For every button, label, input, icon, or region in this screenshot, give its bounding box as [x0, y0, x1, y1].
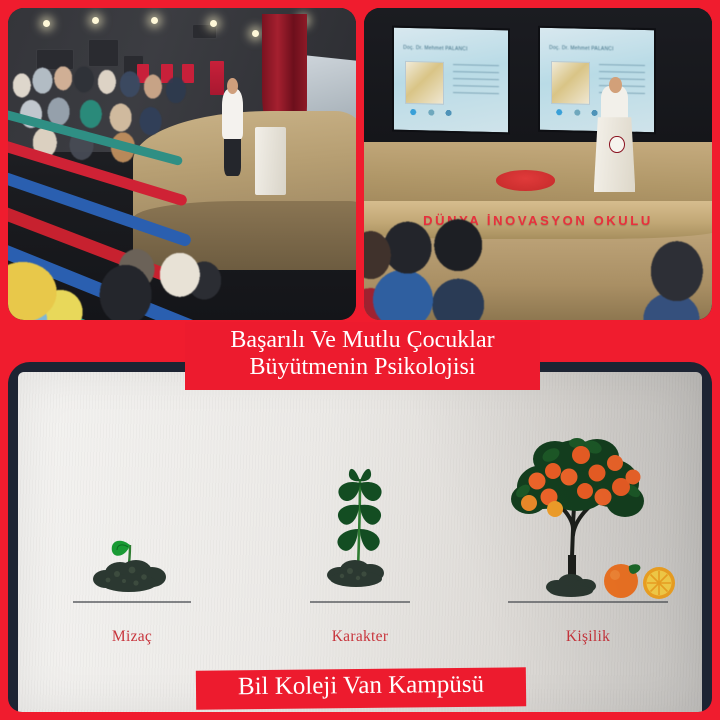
podium — [255, 127, 286, 196]
ground-line — [73, 601, 191, 603]
slide-panel: Mizaç — [8, 362, 712, 712]
ceiling-light — [252, 30, 259, 37]
stage-label-kisilik: Kişilik — [566, 628, 610, 646]
slide-social-icons — [408, 105, 461, 119]
slide-title: Doç. Dr. Mehmet PALANCI — [549, 45, 645, 53]
foreground-audience — [8, 189, 272, 320]
stage-label-karakter: Karakter — [332, 628, 389, 646]
photo-row: Doç. Dr. Mehmet PALANCI Doç. Dr. Mehmet … — [8, 8, 712, 320]
projection-screen-left: Doç. Dr. Mehmet PALANCI — [392, 25, 510, 134]
footer-banner: Bil Koleji Van Kampüsü — [196, 667, 526, 709]
orange-tree-icon — [493, 425, 683, 603]
young-plant-icon — [300, 449, 420, 603]
title-banner: Başarılı Ve Mutlu Çocuklar Büyütmenin Ps… — [185, 322, 540, 390]
photo-stage-presentation: Doç. Dr. Mehmet PALANCI Doç. Dr. Mehmet … — [364, 8, 712, 320]
ceiling-light — [92, 17, 99, 24]
podium — [594, 117, 636, 192]
ground-line — [310, 601, 410, 603]
stage-label-mizac: Mizaç — [112, 628, 152, 646]
slide-bullet-lines — [453, 63, 499, 99]
stage-mizac: Mizaç — [18, 406, 246, 646]
projection-screen: Mizaç — [18, 372, 702, 712]
projection-screen-right: Doç. Dr. Mehmet PALANCI — [538, 25, 656, 134]
slide-social-icons — [554, 105, 607, 118]
slide-image — [551, 60, 590, 104]
stage-karakter: Karakter — [246, 406, 474, 646]
stage-floor-circle — [496, 170, 555, 190]
title-line-2: Büyütmenin Psikolojisi — [195, 354, 530, 381]
slide-image — [405, 60, 444, 104]
photo-auditorium-audience — [8, 8, 356, 320]
sprout-svg — [72, 517, 192, 599]
speaker-head — [609, 77, 622, 93]
foreground-audience — [364, 208, 587, 320]
plant-svg — [300, 449, 420, 599]
wall-panel — [88, 39, 119, 67]
growth-stages: Mizaç — [18, 406, 702, 646]
ground-line — [508, 601, 668, 603]
seed-sprout-icon — [72, 517, 192, 603]
title-line-1: Başarılı Ve Mutlu Çocuklar — [195, 327, 530, 354]
stage-kisilik: Kişilik — [474, 406, 702, 646]
slide-title: Doç. Dr. Mehmet PALANCI — [403, 45, 499, 53]
foreground-person-right — [635, 226, 712, 320]
photo-collage: Doç. Dr. Mehmet PALANCI Doç. Dr. Mehmet … — [0, 0, 720, 720]
tree-svg — [493, 425, 683, 615]
